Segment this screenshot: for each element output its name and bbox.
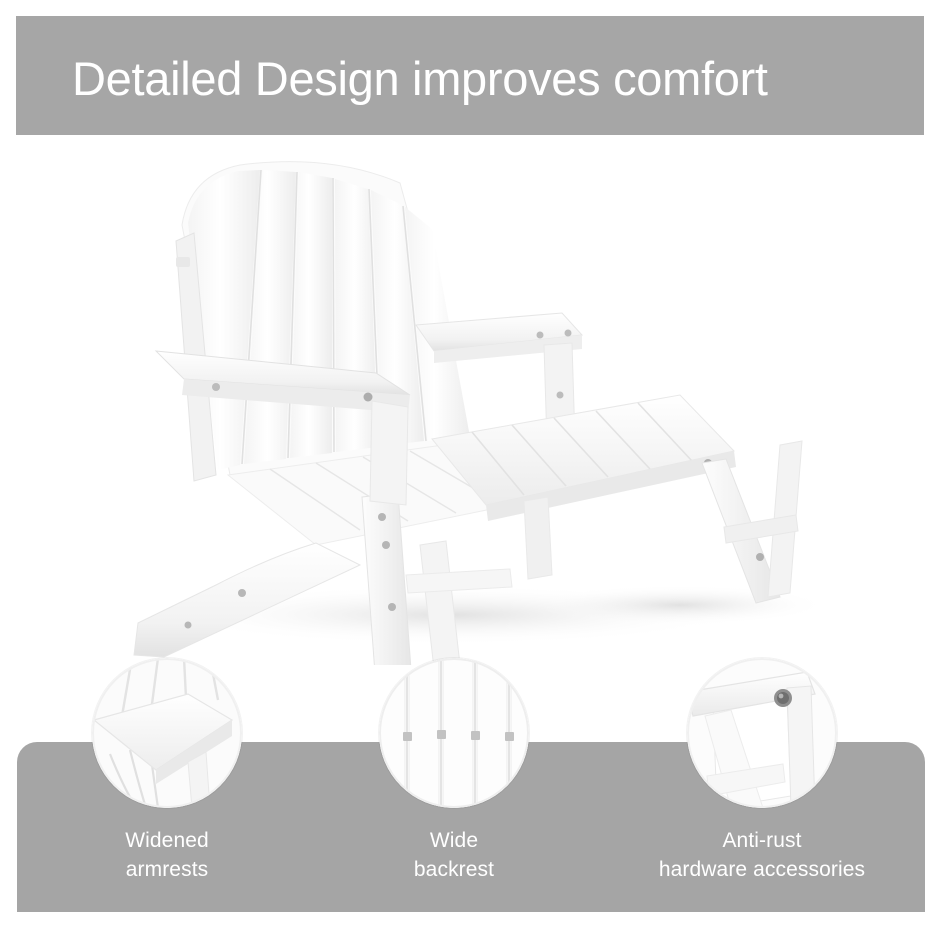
product-feature-banner: Detailed Design improves comfort: [0, 0, 940, 940]
feature-caption: Wide backrest: [304, 826, 604, 884]
chair-backrest: [176, 162, 472, 481]
feature-caption-line-1: Wide: [304, 826, 604, 855]
feature-item-anti-rust-hardware: Anti-rust hardware accessories: [612, 650, 912, 912]
feature-caption: Widened armrests: [17, 826, 317, 884]
header-banner: Detailed Design improves comfort: [16, 16, 924, 135]
page-title: Detailed Design improves comfort: [72, 52, 892, 106]
feature-item-widened-armrests: Widened armrests: [17, 650, 317, 912]
adirondack-chair-image: [120, 145, 820, 665]
hardware-screw-closeup-icon: [687, 658, 837, 808]
feature-caption-line-2: backrest: [304, 855, 604, 884]
armrest-closeup-icon: [92, 658, 242, 808]
feature-caption-line-2: hardware accessories: [612, 855, 912, 884]
feature-caption-line-1: Widened: [17, 826, 317, 855]
feature-caption: Anti-rust hardware accessories: [612, 826, 912, 884]
feature-list: Widened armrests: [17, 650, 925, 912]
backrest-slats-closeup-icon: [379, 658, 529, 808]
feature-caption-line-1: Anti-rust: [612, 826, 912, 855]
feature-item-wide-backrest: Wide backrest: [304, 650, 604, 912]
feature-caption-line-2: armrests: [17, 855, 317, 884]
